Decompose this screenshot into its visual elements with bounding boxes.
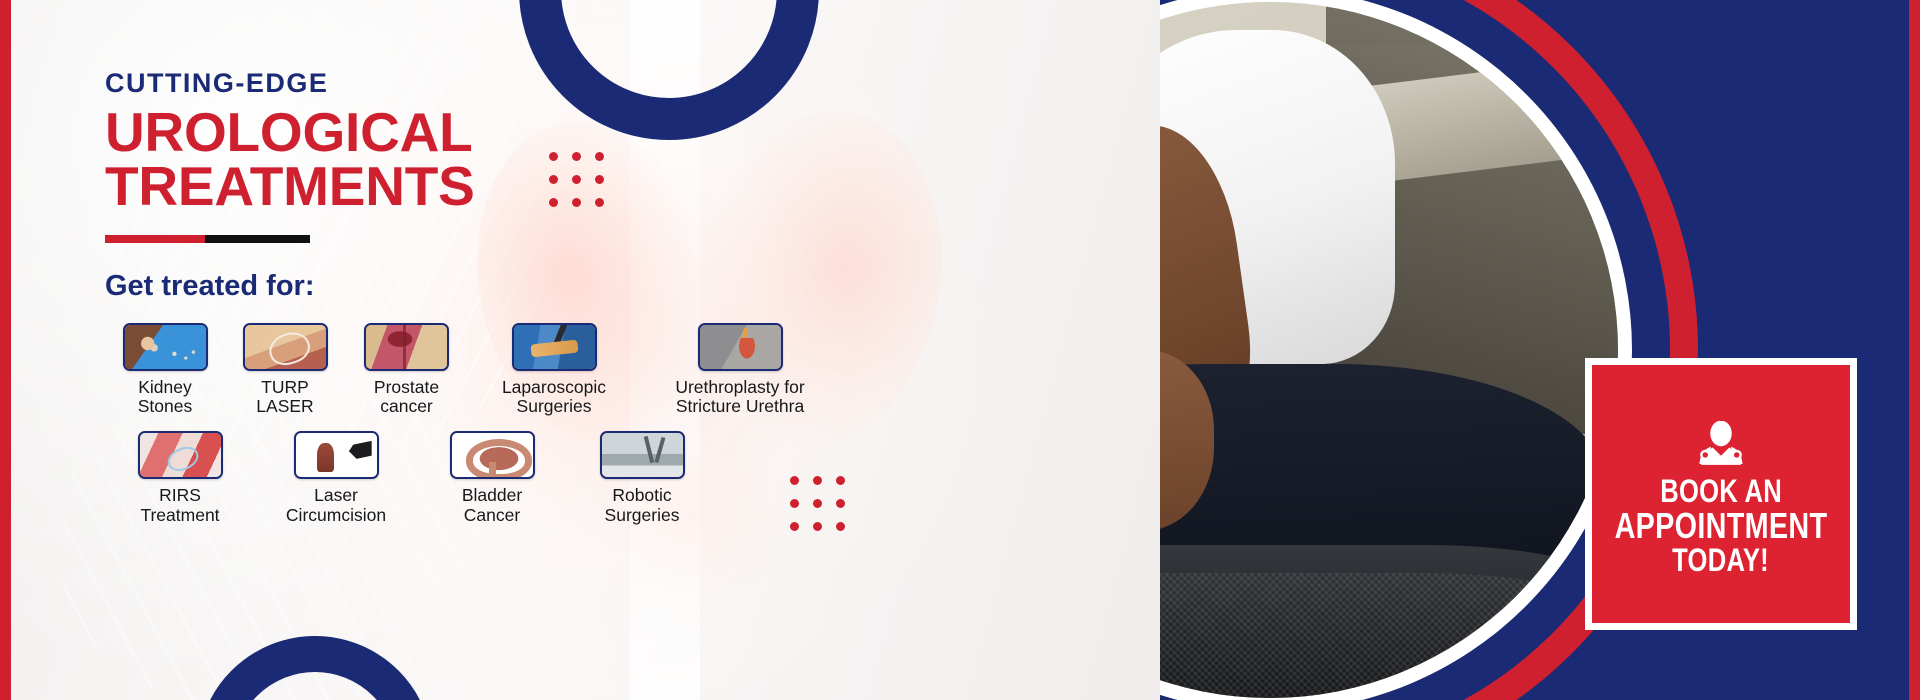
treatment-item-kidney-stones[interactable]: Kidney Stones [105, 323, 225, 417]
left-content: CUTTING-EDGE UROLOGICAL TREATMENTS Get t… [105, 0, 925, 700]
page-title: UROLOGICAL TREATMENTS [105, 106, 925, 214]
treatment-label: TURP LASER [225, 378, 345, 417]
treatment-label: Prostate cancer [345, 378, 468, 417]
treatment-label: Kidney Stones [105, 378, 225, 417]
headline-line-2: TREATMENTS [105, 160, 925, 214]
treatment-item-bladder-cancer[interactable]: Bladder Cancer [417, 431, 567, 525]
treatment-label: Bladder Cancer [417, 486, 567, 525]
treatment-item-robotic-surgeries[interactable]: Robotic Surgeries [567, 431, 717, 525]
banner-root: CUTTING-EDGE UROLOGICAL TREATMENTS Get t… [0, 0, 1920, 700]
right-red-rail [1909, 0, 1920, 700]
laparoscopic-surgery-thumbnail [512, 323, 597, 371]
treatment-label: RIRS Treatment [105, 486, 255, 525]
treatment-item-laparoscopic-surgeries[interactable]: Laparoscopic Surgeries [468, 323, 640, 417]
treatment-item-prostate-cancer[interactable]: Prostate cancer [345, 323, 468, 417]
treatment-item-laser-circumcision[interactable]: Laser Circumcision [255, 431, 417, 525]
eyebrow-text: CUTTING-EDGE [105, 70, 925, 97]
rirs-treatment-thumbnail [138, 431, 223, 479]
badge-content: BOOK AN APPOINTMENT TODAY! [1592, 365, 1850, 623]
robotic-surgery-thumbnail [600, 431, 685, 479]
treatment-item-rirs-treatment[interactable]: RIRS Treatment [105, 431, 255, 525]
headline-line-1: UROLOGICAL [105, 101, 473, 163]
bladder-cancer-thumbnail [450, 431, 535, 479]
treatment-label: Urethroplasty for Stricture Urethra [640, 378, 840, 417]
treatment-item-urethroplasty[interactable]: Urethroplasty for Stricture Urethra [640, 323, 840, 417]
treatment-label: Robotic Surgeries [567, 486, 717, 525]
badge-line-2: APPOINTMENT [1615, 508, 1828, 545]
badge-line-1: BOOK AN [1660, 475, 1782, 508]
treatment-label: Laser Circumcision [255, 486, 417, 525]
treatment-item-turp-laser[interactable]: TURP LASER [225, 323, 345, 417]
treatment-row-1: Kidney Stones TURP LASER Prostate cancer… [105, 323, 925, 417]
badge-line-3: TODAY! [1673, 544, 1770, 577]
treatment-label: Laparoscopic Surgeries [468, 378, 640, 417]
left-red-rail [0, 0, 11, 700]
kidney-stone-thumbnail [123, 323, 208, 371]
divider-segment-black [205, 235, 310, 243]
divider-bar [105, 235, 310, 243]
book-appointment-badge[interactable]: BOOK AN APPOINTMENT TODAY! [1592, 365, 1850, 623]
urethroplasty-thumbnail [698, 323, 783, 371]
subheading-text: Get treated for: [105, 272, 925, 301]
prostate-cancer-thumbnail [364, 323, 449, 371]
laser-circumcision-thumbnail [294, 431, 379, 479]
turp-laser-thumbnail [243, 323, 328, 371]
seated-male-patient-photo [1160, 2, 1618, 698]
treatment-row-2: RIRS Treatment Laser Circumcision Bladde… [105, 431, 925, 525]
divider-segment-red [105, 235, 205, 243]
doctor-stethoscope-icon [1694, 421, 1748, 469]
